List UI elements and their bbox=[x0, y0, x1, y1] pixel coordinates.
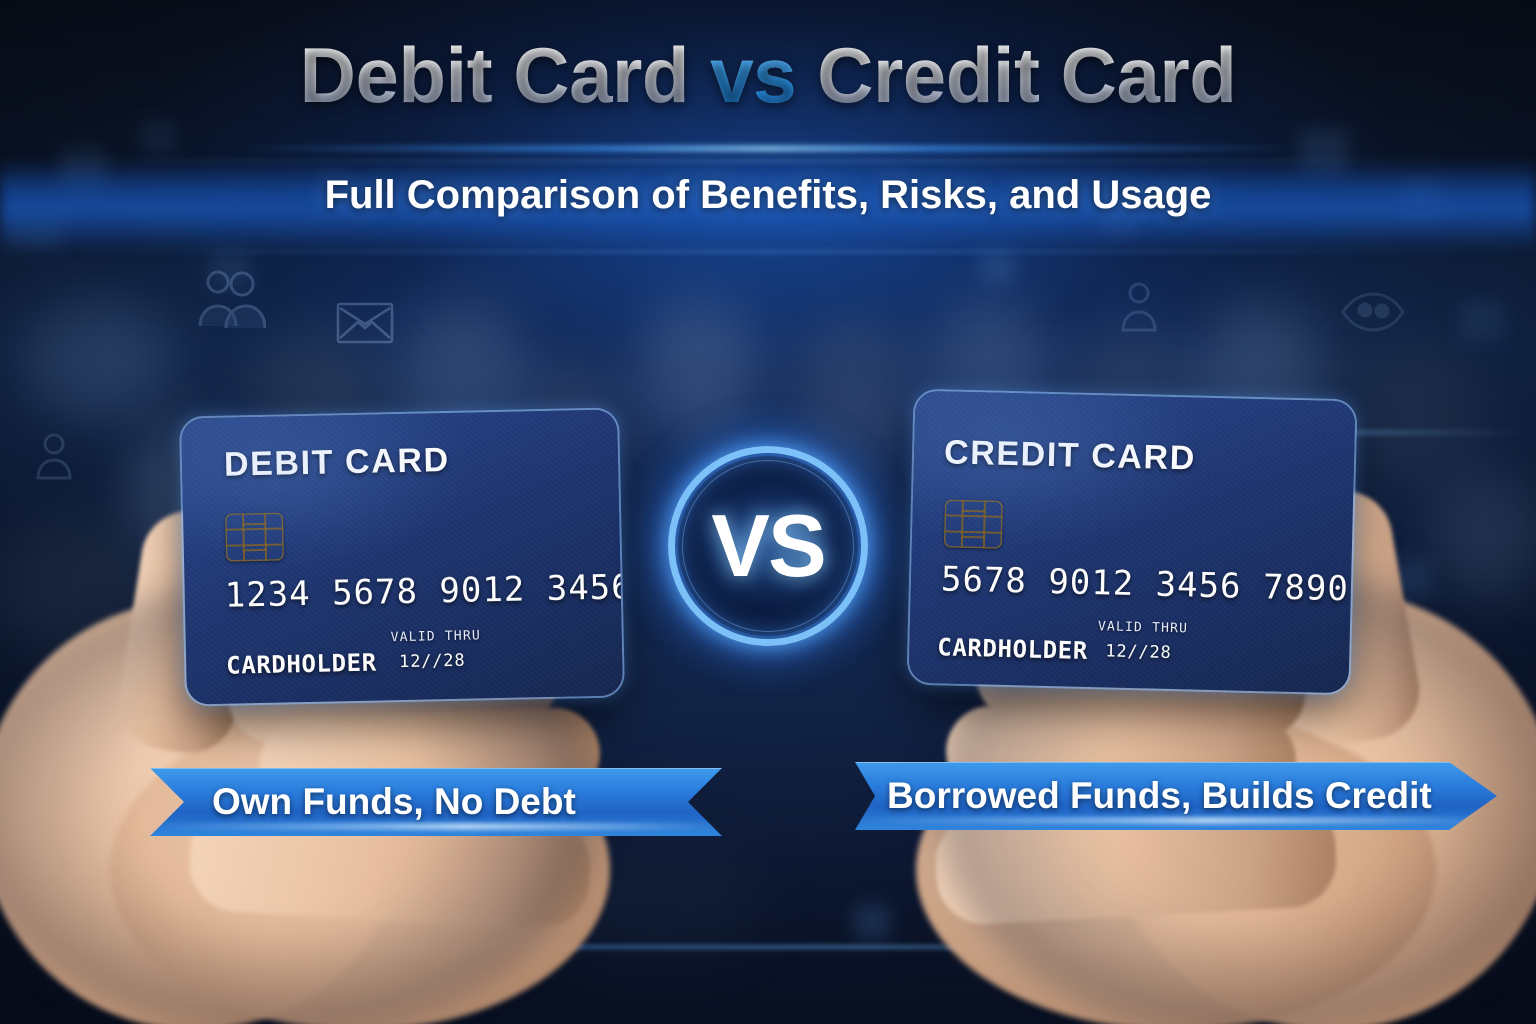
debit-valid-thru-date: 12//28 bbox=[399, 651, 466, 672]
credit-banner[interactable]: Borrowed Funds, Builds Credit bbox=[855, 762, 1497, 830]
page-subtitle: Full Comparison of Benefits, Risks, and … bbox=[0, 173, 1536, 218]
credit-banner-label: Borrowed Funds, Builds Credit bbox=[887, 775, 1432, 817]
users-group-icon bbox=[196, 268, 266, 334]
envelope-mail-icon bbox=[336, 302, 394, 344]
debit-cardholder-name: CARDHOLDER bbox=[226, 649, 377, 680]
page-title: Debit Card vs Credit Card bbox=[0, 36, 1536, 114]
credit-valid-thru-date: 12//28 bbox=[1105, 641, 1172, 663]
infographic-canvas: DEBIT CARD 1234 5678 9012 3456 VALID THR… bbox=[0, 0, 1536, 1024]
vs-badge: VS bbox=[662, 440, 874, 652]
credit-card-title: CREDIT CARD bbox=[944, 433, 1197, 478]
credit-card-chip-icon bbox=[944, 499, 1003, 548]
eye-icon bbox=[1340, 290, 1406, 334]
title-segment-debit: Debit Card bbox=[300, 31, 711, 119]
debit-banner-label: Own Funds, No Debt bbox=[212, 781, 576, 823]
credit-cardholder-name: CARDHOLDER bbox=[937, 633, 1088, 665]
user-badge-icon bbox=[1118, 280, 1160, 332]
debit-valid-thru-label: VALID THRU bbox=[391, 628, 482, 645]
debit-card-number: 1234 5678 9012 3456 bbox=[224, 567, 623, 616]
vs-label: VS bbox=[662, 440, 874, 652]
credit-card[interactable]: CREDIT CARD 5678 9012 3456 7890 VALID TH… bbox=[908, 391, 1355, 694]
debit-card[interactable]: DEBIT CARD 1234 5678 9012 3456 VALID THR… bbox=[181, 409, 623, 704]
debit-card-title: DEBIT CARD bbox=[224, 441, 450, 485]
debit-banner-sheen bbox=[150, 823, 722, 830]
title-segment-vs: vs bbox=[710, 31, 796, 119]
debit-card-chip-icon bbox=[225, 512, 284, 561]
title-segment-credit: Credit Card bbox=[796, 31, 1236, 119]
title-underline-glow bbox=[238, 146, 1298, 151]
credit-banner-sheen bbox=[855, 817, 1497, 824]
credit-valid-thru-label: VALID THRU bbox=[1098, 619, 1189, 636]
debit-banner[interactable]: Own Funds, No Debt bbox=[150, 768, 722, 836]
credit-card-number: 5678 9012 3456 7890 bbox=[941, 559, 1350, 609]
